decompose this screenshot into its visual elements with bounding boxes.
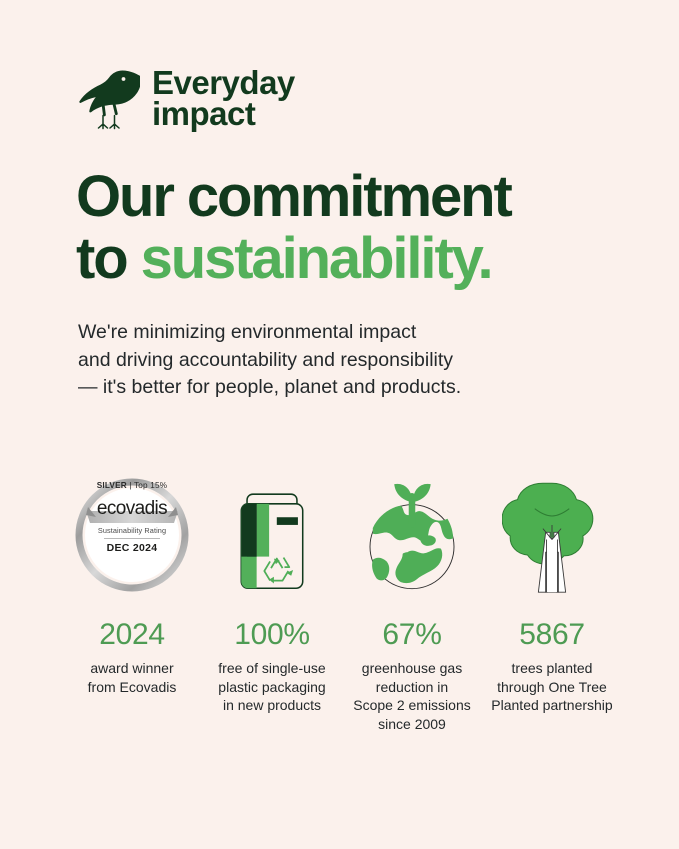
stats-row: SILVER | Top 15% ecovadis Sustainability…	[62, 470, 622, 733]
caption-line: greenhouse gas	[353, 659, 471, 678]
globe-sprout-icon	[356, 470, 468, 601]
stat-caption: award winner from Ecovadis	[88, 659, 177, 696]
logo-line-2: impact	[152, 98, 295, 129]
headline-plain: to	[76, 226, 141, 291]
stat-item: SILVER | Top 15% ecovadis Sustainability…	[62, 470, 202, 696]
recyclable-packaging-icon	[224, 475, 320, 595]
intro-paragraph: We're minimizing environmental impact an…	[78, 319, 598, 402]
caption-line: in new products	[218, 696, 325, 715]
caption-line: plastic packaging	[218, 678, 325, 697]
caption-line: award winner	[88, 659, 177, 678]
caption-line: since 2009	[353, 715, 471, 734]
stat-icon-wrapper: SILVER | Top 15% ecovadis Sustainability…	[74, 470, 190, 600]
stat-value: 100%	[234, 620, 310, 650]
logo-wordmark: Everyday impact	[152, 67, 295, 130]
stat-icon-wrapper	[502, 470, 602, 600]
caption-line: Scope 2 emissions	[353, 696, 471, 715]
stat-icon-wrapper	[356, 470, 468, 600]
stat-value: 5867	[519, 620, 585, 650]
stat-value: 2024	[99, 620, 165, 650]
stat-caption: free of single-use plastic packaging in …	[218, 659, 325, 715]
brand-logo: Everyday impact	[78, 62, 295, 134]
stat-caption: trees planted through One Tree Planted p…	[491, 659, 612, 715]
stat-value: 67%	[382, 620, 441, 650]
headline-accent: sustainability.	[141, 226, 492, 291]
stat-item: 5867 trees planted through One Tree Plan…	[482, 470, 622, 715]
page-title: Our commitment to sustainability.	[76, 166, 636, 290]
medal-graphic	[74, 477, 190, 593]
caption-line: through One Tree	[491, 678, 612, 697]
bird-icon	[78, 62, 140, 134]
caption-line: trees planted	[491, 659, 612, 678]
sustainability-infographic: Everyday impact Our commitment to sustai…	[0, 0, 679, 849]
caption-line: from Ecovadis	[88, 678, 177, 697]
logo-line-1: Everyday	[152, 67, 295, 98]
headline-line-1: Our commitment	[76, 166, 636, 228]
caption-line: Planted partnership	[491, 696, 612, 715]
body-line-3: — it's better for people, planet and pro…	[78, 374, 598, 402]
body-line-2: and driving accountability and responsib…	[78, 347, 598, 375]
tree-icon	[502, 476, 602, 594]
stat-item: 100% free of single-use plastic packagin…	[202, 470, 342, 715]
ecovadis-medal-icon: SILVER | Top 15% ecovadis Sustainability…	[74, 477, 190, 593]
caption-line: free of single-use	[218, 659, 325, 678]
headline-line-2: to sustainability.	[76, 228, 636, 290]
stat-caption: greenhouse gas reduction in Scope 2 emis…	[353, 659, 471, 733]
stat-item: 67% greenhouse gas reduction in Scope 2 …	[342, 470, 482, 733]
caption-line: reduction in	[353, 678, 471, 697]
stat-icon-wrapper	[224, 470, 320, 600]
body-line-1: We're minimizing environmental impact	[78, 319, 598, 347]
